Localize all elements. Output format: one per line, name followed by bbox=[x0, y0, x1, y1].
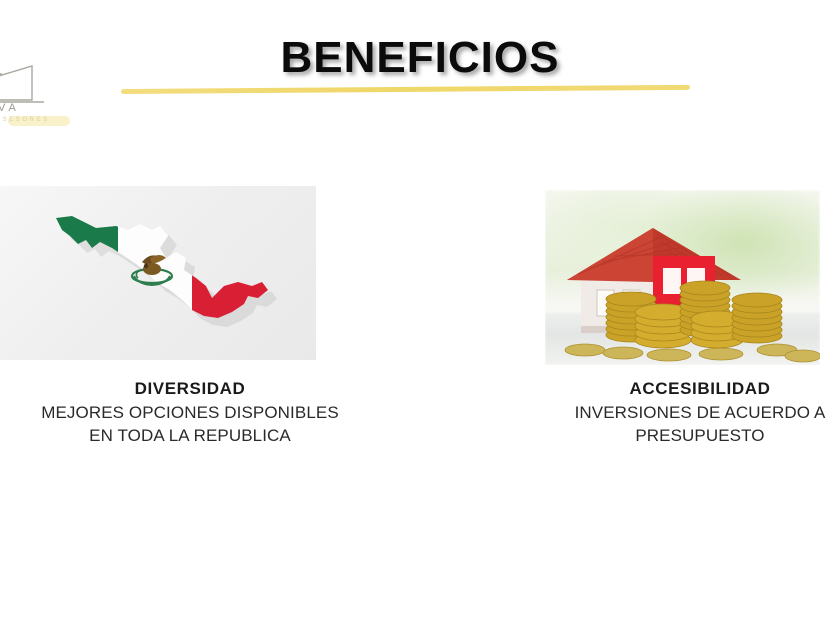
logo-subtext: ASESORES bbox=[0, 117, 50, 123]
caption-body-line-2: PRESUPUESTO bbox=[480, 425, 840, 447]
slide-canvas: VA ASESORES BENEFICIOS bbox=[0, 0, 840, 630]
caption-accesibilidad: ACCESIBILIDAD INVERSIONES DE ACUERDO A P… bbox=[480, 379, 840, 447]
logo-wordmark: VA bbox=[0, 102, 20, 114]
caption-body-line-1: MEJORES OPCIONES DISPONIBLES bbox=[0, 402, 410, 424]
slide-title: BENEFICIOS bbox=[0, 36, 840, 80]
title-underline-rule bbox=[121, 85, 690, 94]
caption-heading: ACCESIBILIDAD bbox=[480, 379, 840, 399]
house-with-coin-stacks-image bbox=[545, 190, 820, 365]
house-coins-scene bbox=[545, 190, 820, 365]
caption-diversidad: DIVERSIDAD MEJORES OPCIONES DISPONIBLES … bbox=[0, 379, 410, 447]
caption-body-line-1: INVERSIONES DE ACUERDO A bbox=[480, 402, 840, 424]
map-scene bbox=[0, 186, 316, 360]
mexico-map-flag-image bbox=[0, 186, 316, 360]
caption-body-line-2: EN TODA LA REPUBLICA bbox=[0, 425, 410, 447]
caption-heading: DIVERSIDAD bbox=[0, 379, 410, 399]
